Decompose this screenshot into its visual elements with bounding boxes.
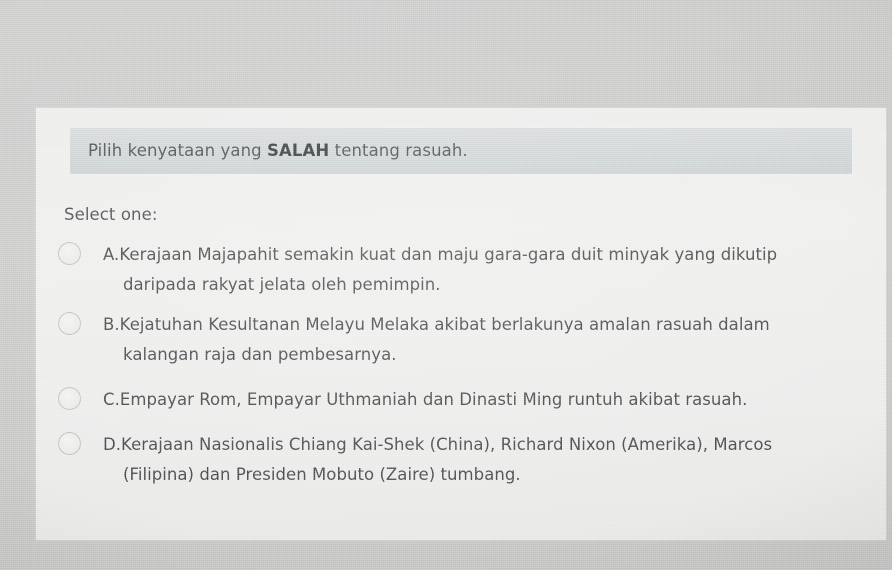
radio-option-a[interactable]: [58, 242, 81, 265]
radio-option-b[interactable]: [58, 312, 81, 335]
question-prompt: Pilih kenyataan yang SALAH tentang rasua…: [88, 141, 848, 161]
answer-option-b-line2: kalangan raja dan pembesarnya.: [103, 340, 878, 370]
question-prompt-prefix: Pilih kenyataan yang: [88, 141, 267, 160]
answer-option-d-line1: D.Kerajaan Nasionalis Chiang Kai-Shek (C…: [103, 435, 772, 454]
answer-option-c-line1: C.Empayar Rom, Empayar Uthmaniah dan Din…: [103, 390, 747, 409]
answer-option-d-text: D.Kerajaan Nasionalis Chiang Kai-Shek (C…: [103, 430, 878, 490]
radio-option-d[interactable]: [58, 432, 81, 455]
select-one-label: Select one:: [64, 205, 158, 225]
answer-option-c-text: C.Empayar Rom, Empayar Uthmaniah dan Din…: [103, 385, 878, 415]
quiz-screen-photo: Pilih kenyataan yang SALAH tentang rasua…: [0, 0, 892, 570]
question-prompt-emphasis: SALAH: [267, 141, 329, 160]
answer-option-d-line2: (Filipina) dan Presiden Mobuto (Zaire) t…: [103, 460, 878, 490]
answer-option-a-line2: daripada rakyat jelata oleh pemimpin.: [103, 270, 878, 300]
answer-option-b-text: B.Kejatuhan Kesultanan Melayu Melaka aki…: [103, 310, 878, 370]
question-prompt-suffix: tentang rasuah.: [329, 141, 467, 160]
answer-option-b-line1: B.Kejatuhan Kesultanan Melayu Melaka aki…: [103, 315, 770, 334]
answer-option-a-text: A.Kerajaan Majapahit semakin kuat dan ma…: [103, 240, 878, 300]
answer-option-a-line1: A.Kerajaan Majapahit semakin kuat dan ma…: [103, 245, 777, 264]
question-card: Pilih kenyataan yang SALAH tentang rasua…: [36, 108, 886, 540]
radio-option-c[interactable]: [58, 387, 81, 410]
